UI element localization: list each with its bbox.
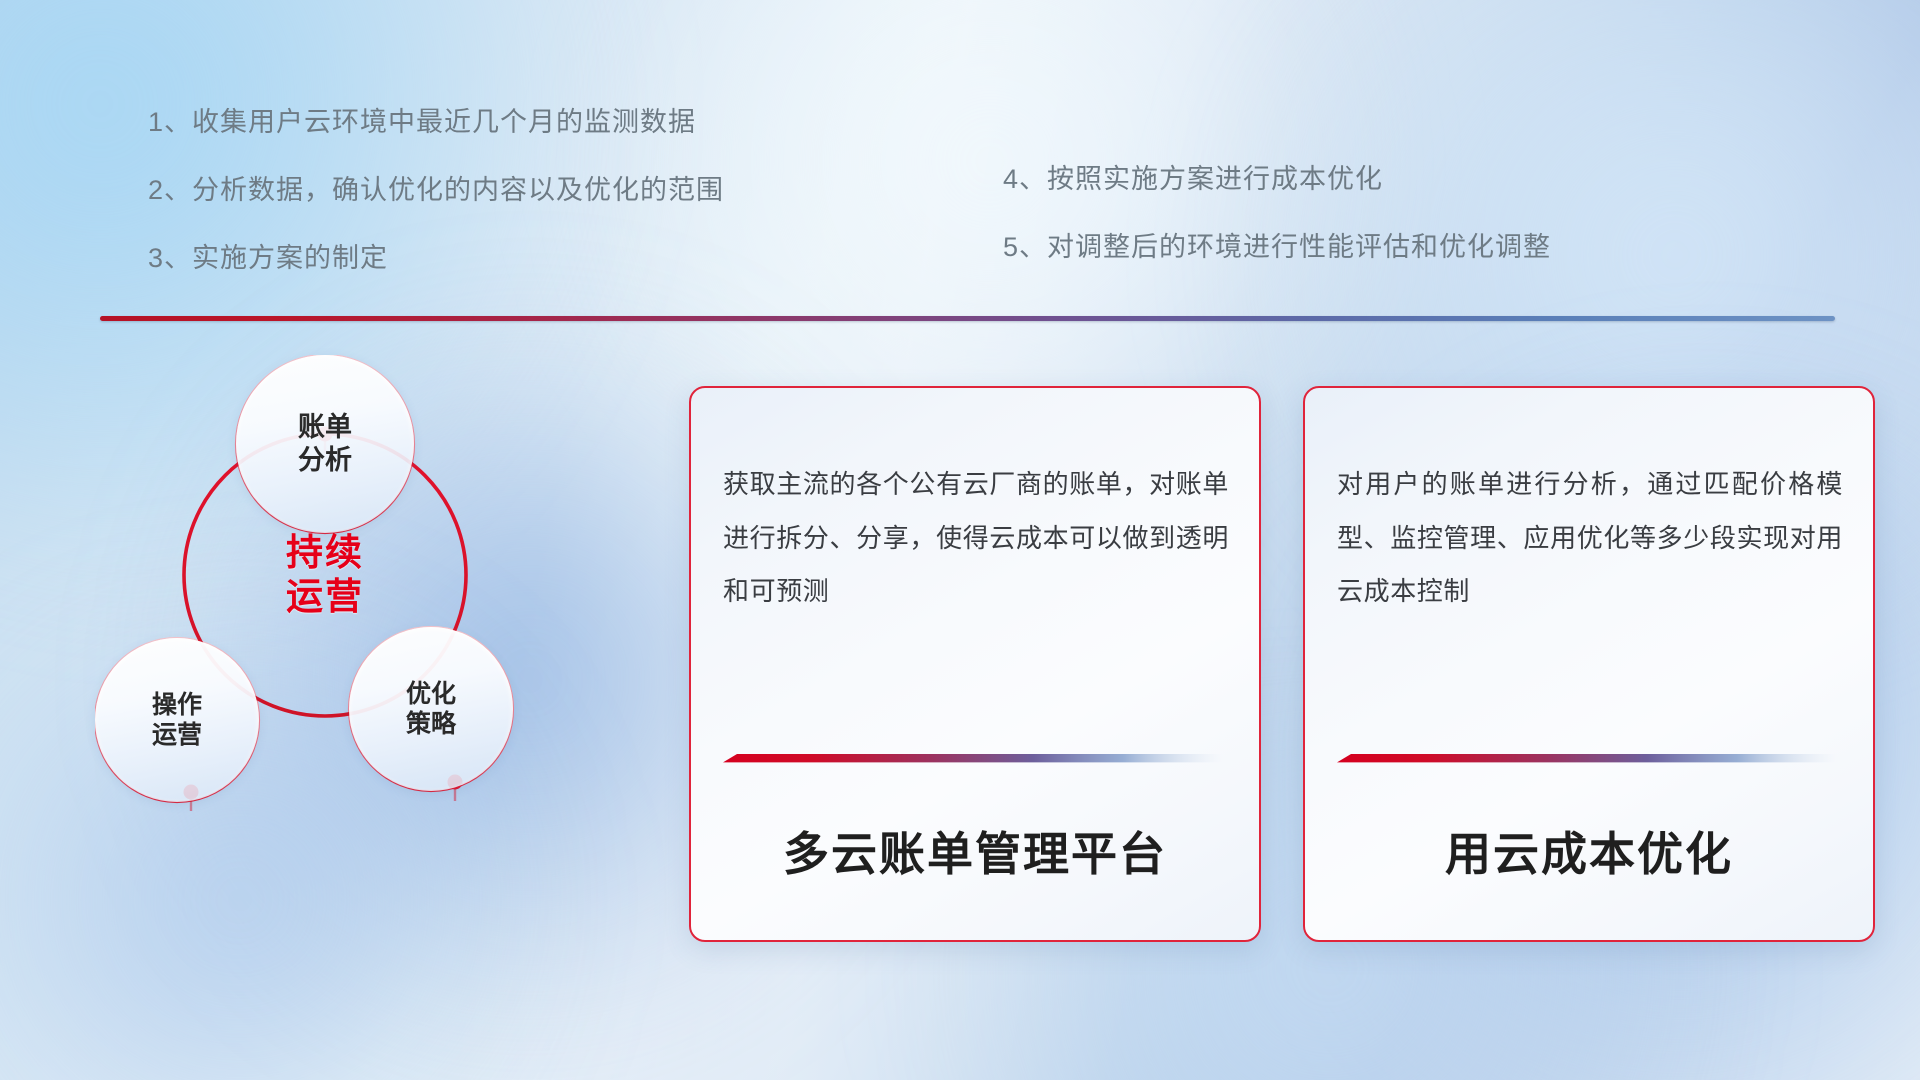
card-divider-svg: [723, 754, 1223, 763]
steps-list-right: 4、按照实施方案进行成本优化 5、对调整后的环境进行性能评估和优化调整: [1003, 157, 1551, 293]
card-divider-rule: [1337, 750, 1837, 759]
venn-center-label: 持续 运营: [225, 475, 425, 675]
card-divider-svg: [1337, 754, 1837, 763]
card-title: 用云成本优化: [1305, 818, 1873, 884]
venn-center-label-line1: 持续: [286, 531, 364, 575]
venn-bubble-label-line2: 分析: [298, 444, 352, 477]
section-divider-rule: [100, 316, 1835, 321]
card-divider-rule: [723, 750, 1223, 759]
venn-bubble-label-line2: 策略: [406, 709, 456, 740]
venn-bubble-label-line1: 优化: [406, 679, 456, 710]
step-item-1: 1、收集用户云环境中最近几个月的监测数据: [148, 100, 724, 139]
venn-bubble-label-line1: 操作: [152, 690, 202, 721]
card-body-text: 对用户的账单进行分析，通过匹配价格模型、监控管理、应用优化等多少段实现对用云成本…: [1337, 458, 1843, 619]
card-cloud-cost-optimization[interactable]: 对用户的账单进行分析，通过匹配价格模型、监控管理、应用优化等多少段实现对用云成本…: [1303, 386, 1875, 942]
step-item-4: 4、按照实施方案进行成本优化: [1003, 157, 1551, 196]
venn-center-label-line2: 运营: [286, 575, 364, 619]
card-multi-cloud-billing-platform[interactable]: 获取主流的各个公有云厂商的账单，对账单进行拆分、分享，使得云成本可以做到透明和可…: [689, 386, 1261, 942]
steps-list-left: 1、收集用户云环境中最近几个月的监测数据 2、分析数据，确认优化的内容以及优化的…: [148, 100, 724, 304]
step-item-5: 5、对调整后的环境进行性能评估和优化调整: [1003, 225, 1551, 264]
venn-bubble-label-line2: 运营: [152, 720, 202, 751]
venn-bubble-label-line1: 账单: [298, 411, 352, 444]
step-item-2: 2、分析数据，确认优化的内容以及优化的范围: [148, 168, 724, 207]
step-item-3: 3、实施方案的制定: [148, 236, 724, 275]
card-body-text: 获取主流的各个公有云厂商的账单，对账单进行拆分、分享，使得云成本可以做到透明和可…: [723, 458, 1229, 619]
card-title: 多云账单管理平台: [691, 818, 1259, 884]
venn-diagram: 账单 分析 操作 运营 优化 策略 持续 运营: [95, 355, 615, 950]
